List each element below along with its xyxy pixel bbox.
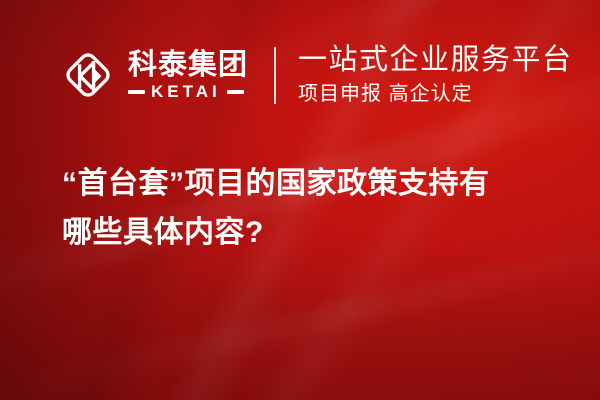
dash-left-icon <box>128 90 145 94</box>
brand-name-en-row: KETAI <box>128 83 248 100</box>
tagline-sub: 项目申报 高企认定 <box>298 81 573 107</box>
tagline-block: 一站式企业服务平台 项目申报 高企认定 <box>298 43 573 106</box>
headline-line-2: 哪些具体内容? <box>62 209 572 258</box>
tagline-main: 一站式企业服务平台 <box>298 43 573 77</box>
vertical-divider <box>274 47 276 104</box>
brand-lockup: 科泰集团 KETAI <box>60 47 248 103</box>
brand-name-en: KETAI <box>151 83 221 100</box>
headline-line-1: “首台套”项目的国家政策支持有 <box>62 160 572 209</box>
brand-text: 科泰集团 KETAI <box>128 50 248 100</box>
headline: “首台套”项目的国家政策支持有 哪些具体内容? <box>62 160 572 257</box>
brand-name-cn: 科泰集团 <box>128 50 248 80</box>
diamond-kt-monogram-icon <box>60 47 116 103</box>
banner-header: 科泰集团 KETAI 一站式企业服务平台 项目申报 高企认定 <box>60 38 573 112</box>
dash-right-icon <box>227 90 244 94</box>
promo-banner: 科泰集团 KETAI 一站式企业服务平台 项目申报 高企认定 “首台套”项目的国… <box>0 0 600 400</box>
